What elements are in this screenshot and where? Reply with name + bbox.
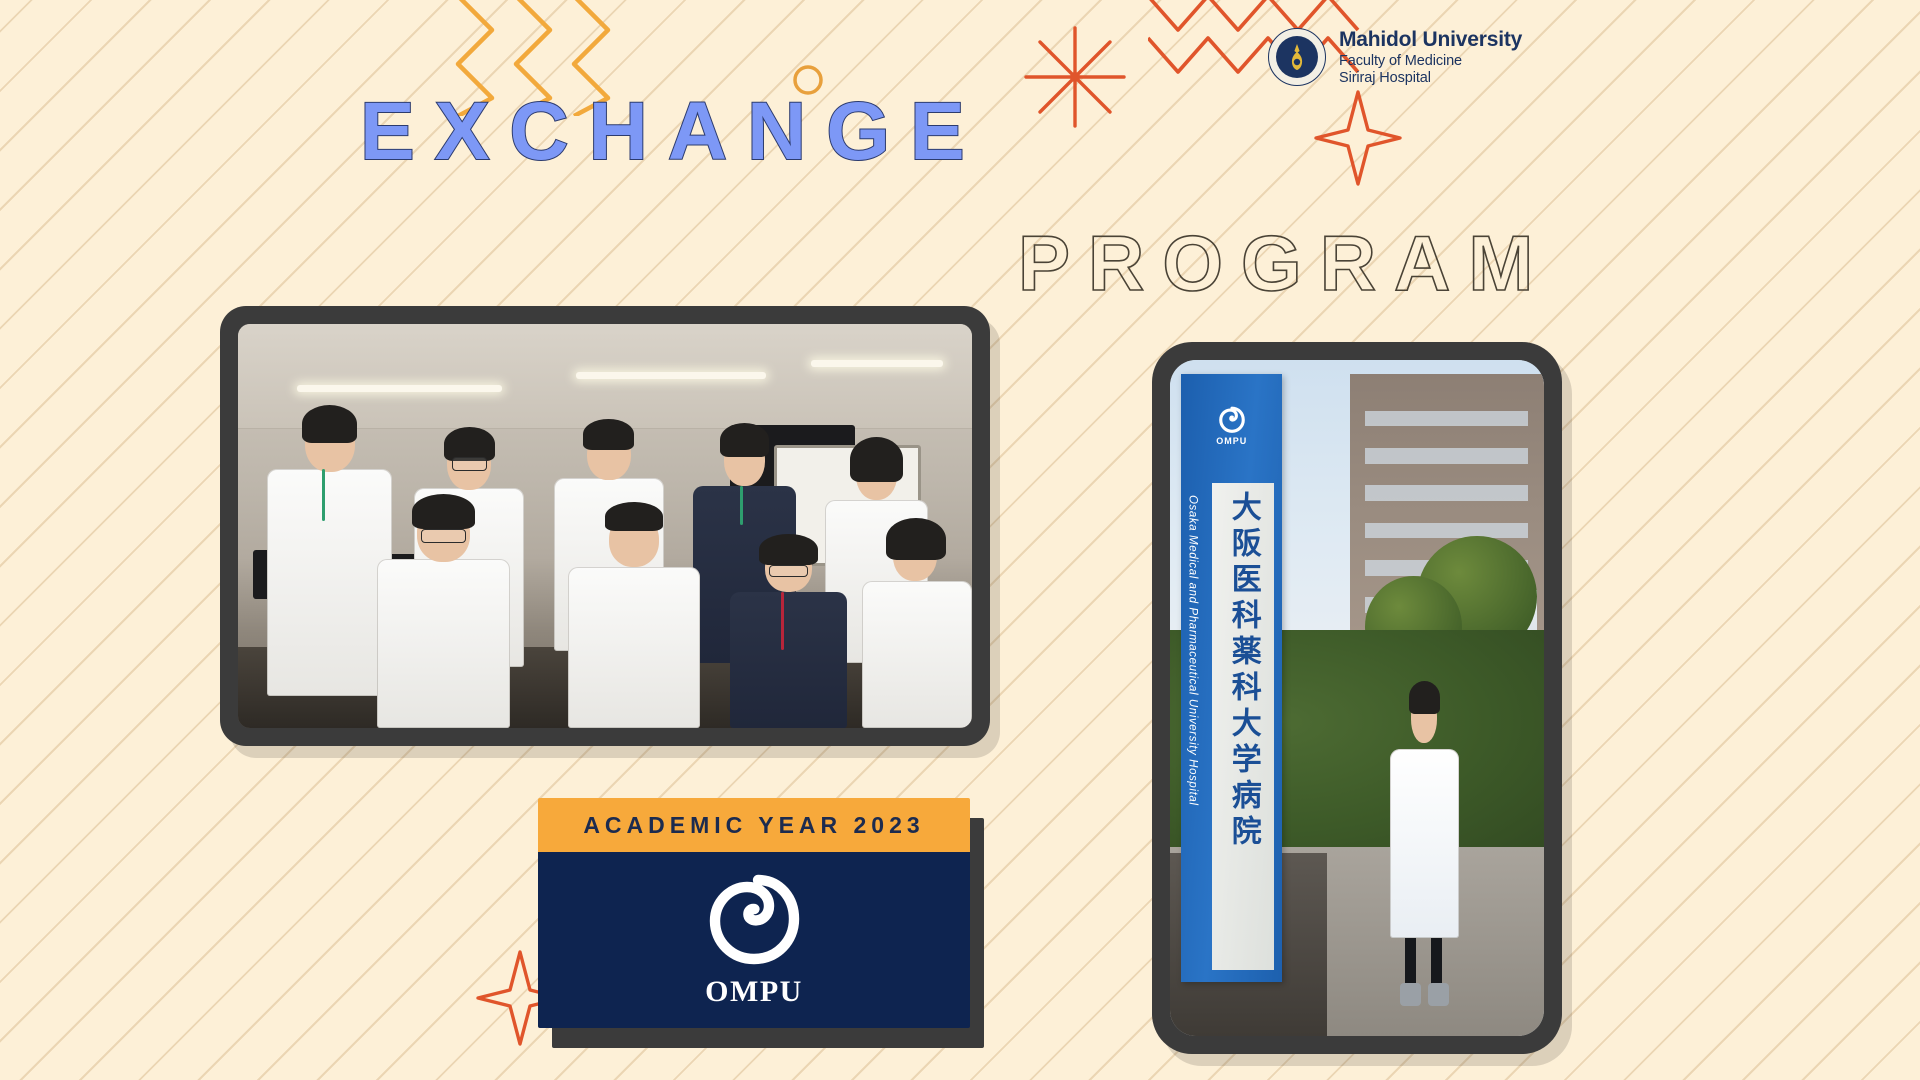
sign-japanese-text: 大阪医科薬科大学病院 (1228, 491, 1258, 851)
person (862, 518, 972, 728)
ompu-logo-icon: OMPU (1181, 374, 1282, 477)
solo-photo: OMPU Osaka Medical and Pharmaceutical Un… (1170, 360, 1544, 1036)
group-photo (238, 324, 972, 728)
ompu-logo-block: OMPU (538, 852, 970, 1028)
ompu-logo-label: OMPU (705, 975, 803, 1009)
solo-photo-frame: OMPU Osaka Medical and Pharmaceutical Un… (1152, 342, 1562, 1054)
person (730, 534, 847, 728)
ompu-sign-label: OMPU (1216, 436, 1247, 446)
academic-year-band: ACADEMIC YEAR 2023 (538, 798, 970, 852)
student-person (1383, 685, 1465, 1009)
person (568, 502, 700, 728)
group-photo-frame (220, 306, 990, 746)
starburst-decoration (1020, 22, 1130, 132)
sign-english-text: Osaka Medical and Pharmaceutical Univers… (1186, 495, 1198, 806)
mahidol-seal-icon (1268, 28, 1326, 86)
hospital-pylon-sign: OMPU Osaka Medical and Pharmaceutical Un… (1181, 374, 1282, 982)
poster-canvas: Mahidol University Faculty of Medicine S… (0, 0, 1920, 1080)
title-program: PROGRAM (1018, 218, 1551, 309)
title-exchange: EXCHANGE (360, 85, 985, 179)
brand-faculty: Faculty of Medicine (1339, 53, 1522, 70)
four-point-star-decoration-top (1312, 88, 1404, 188)
academic-year-card: ACADEMIC YEAR 2023 OMPU (538, 798, 970, 1028)
brand-hospital: Siriraj Hospital (1339, 70, 1522, 87)
brand-name: Mahidol University (1339, 28, 1522, 53)
person (267, 405, 392, 696)
mahidol-logo-block: Mahidol University Faculty of Medicine S… (1268, 28, 1522, 87)
person (377, 494, 509, 728)
academic-year-label: ACADEMIC YEAR 2023 (583, 812, 924, 839)
ompu-swoosh-icon (704, 872, 804, 973)
